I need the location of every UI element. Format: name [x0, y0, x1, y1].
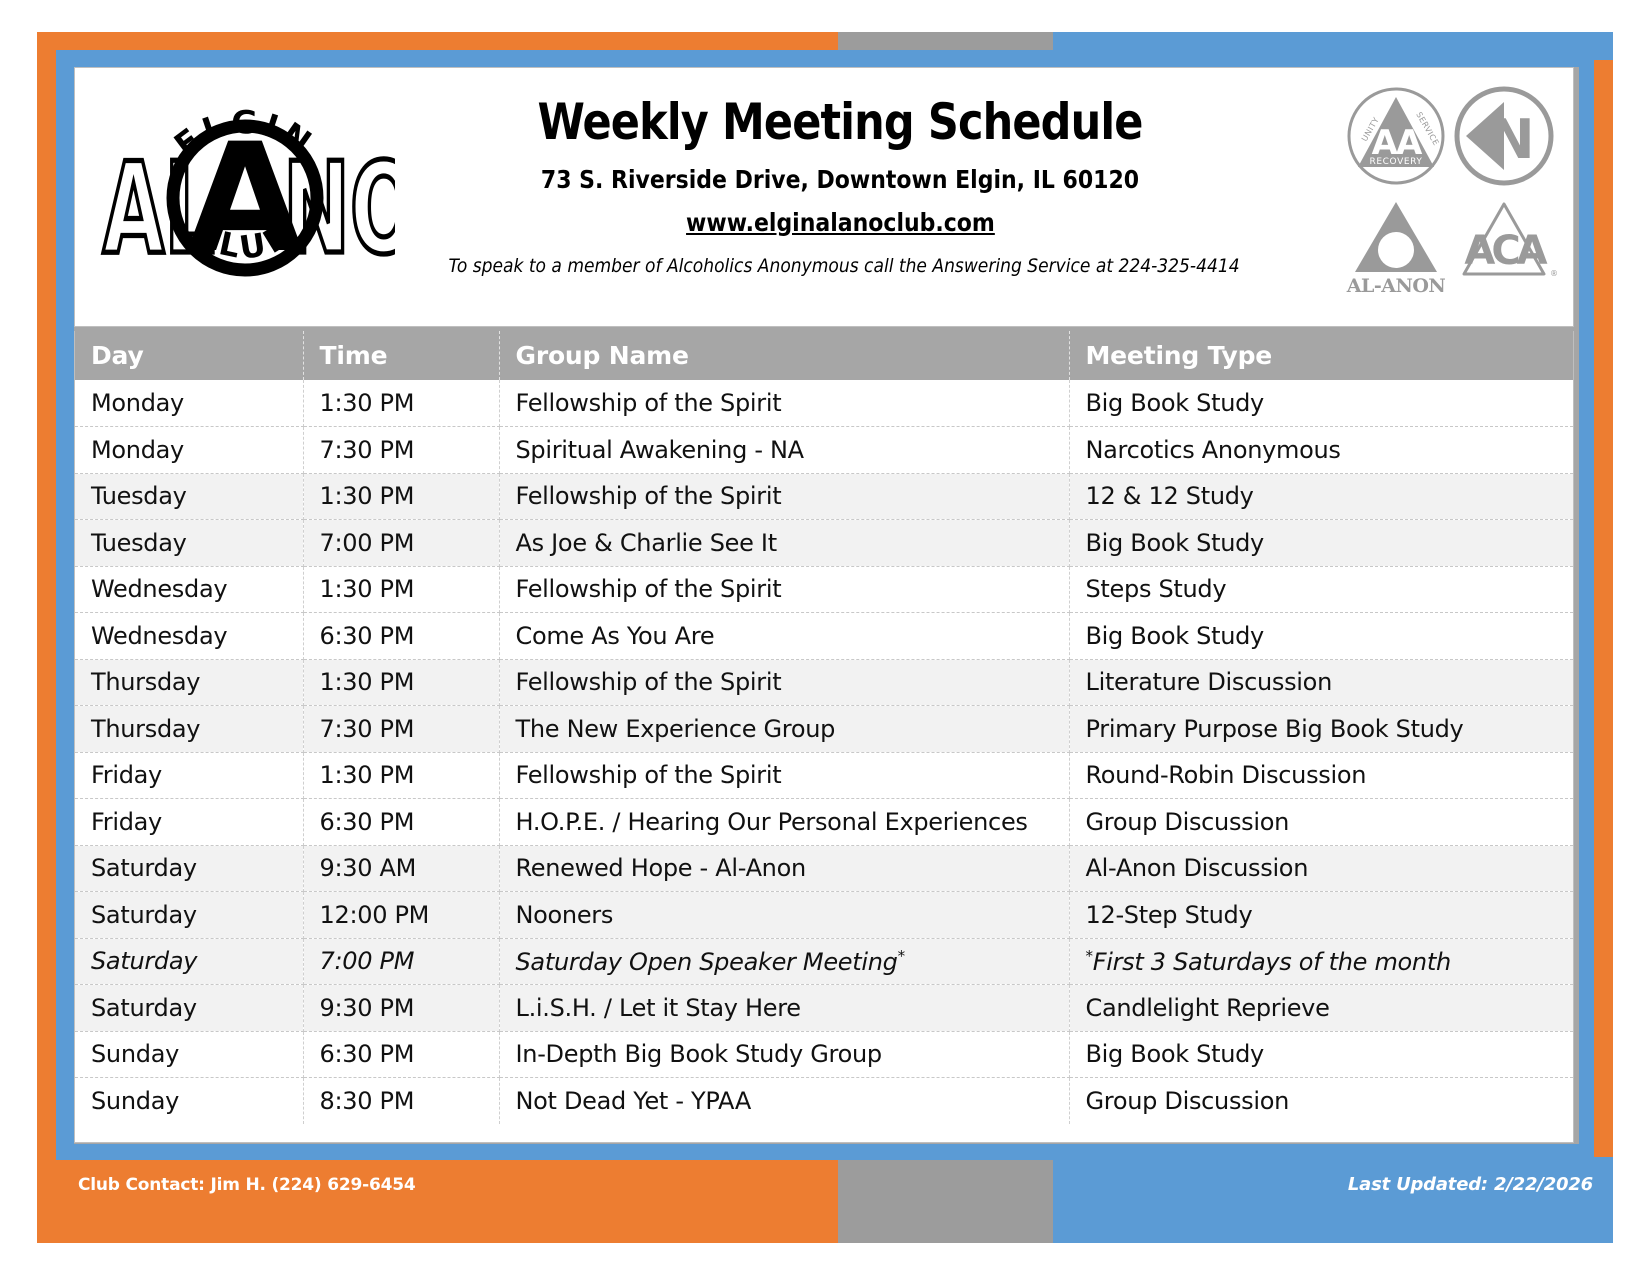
cell-meeting-type: 12 & 12 Study: [1069, 473, 1573, 520]
cell-group-name: Not Dead Yet - YPAA: [499, 1078, 1069, 1125]
svg-text:N: N: [1489, 108, 1534, 171]
table-row[interactable]: Wednesday6:30 PMCome As You AreBig Book …: [75, 613, 1573, 660]
cell-meeting-type: Narcotics Anonymous: [1069, 427, 1573, 474]
cell-meeting-type: Big Book Study: [1069, 520, 1573, 567]
al-anon-logo-icon: AL-ANON: [1346, 202, 1446, 297]
cell-group-name: H.O.P.E. / Hearing Our Personal Experien…: [499, 799, 1069, 846]
cell-time: 7:30 PM: [303, 427, 499, 474]
cell-time: 6:30 PM: [303, 1031, 499, 1078]
cell-day: Tuesday: [75, 473, 303, 520]
table-row[interactable]: Thursday1:30 PMFellowship of the SpiritL…: [75, 659, 1573, 706]
cell-time: 1:30 PM: [303, 473, 499, 520]
column-header-meeting-type[interactable]: Meeting Type: [1069, 331, 1573, 380]
table-row[interactable]: Sunday8:30 PMNot Dead Yet - YPAAGroup Di…: [75, 1078, 1573, 1125]
cell-group-name: Renewed Hope - Al-Anon: [499, 845, 1069, 892]
table-row[interactable]: Monday7:30 PMSpiritual Awakening - NANar…: [75, 427, 1573, 474]
cell-group-name: L.i.S.H. / Let it Stay Here: [499, 985, 1069, 1032]
table-row[interactable]: Tuesday7:00 PMAs Joe & Charlie See ItBig…: [75, 520, 1573, 567]
aa-logo-icon: AA RECOVERY UNITY SERVICE: [1349, 89, 1443, 183]
cell-day: Thursday: [75, 659, 303, 706]
cell-meeting-type: *First 3 Saturdays of the month: [1069, 938, 1573, 985]
bottom-band-grey-segment: [838, 1157, 1053, 1243]
header-card: AL NO A ELGIN CLUB Weekly Meeting Schedu…: [74, 67, 1574, 327]
table-row[interactable]: Saturday9:30 PML.i.S.H. / Let it Stay He…: [75, 985, 1573, 1032]
club-contact-text: Club Contact: Jim H. (224) 629-6454: [78, 1175, 415, 1195]
aca-logo-icon: ACA ®: [1464, 204, 1558, 278]
cell-time: 7:00 PM: [303, 520, 499, 567]
column-header-time[interactable]: Time: [303, 331, 499, 380]
cell-meeting-type: Round-Robin Discussion: [1069, 752, 1573, 799]
table-row[interactable]: Tuesday1:30 PMFellowship of the Spirit12…: [75, 473, 1573, 520]
cell-meeting-type: Big Book Study: [1069, 1031, 1573, 1078]
table-row[interactable]: Saturday7:00 PMSaturday Open Speaker Mee…: [75, 938, 1573, 985]
cell-day: Saturday: [75, 985, 303, 1032]
cell-group-name: The New Experience Group: [499, 706, 1069, 753]
cell-meeting-type: Literature Discussion: [1069, 659, 1573, 706]
table-row[interactable]: Saturday9:30 AMRenewed Hope - Al-AnonAl-…: [75, 845, 1573, 892]
cell-group-name: Nooners: [499, 892, 1069, 939]
cell-group-name: In-Depth Big Book Study Group: [499, 1031, 1069, 1078]
cell-meeting-type: Big Book Study: [1069, 380, 1573, 427]
cell-time: 6:30 PM: [303, 613, 499, 660]
cell-meeting-type: Group Discussion: [1069, 1078, 1573, 1125]
svg-text:ACA: ACA: [1464, 228, 1547, 274]
cell-group-name: Come As You Are: [499, 613, 1069, 660]
bottom-band-blue-segment: [1053, 1157, 1613, 1243]
address-line: 73 S. Riverside Drive, Downtown Elgin, I…: [457, 165, 1223, 194]
cell-group-name: Fellowship of the Spirit: [499, 752, 1069, 799]
cell-meeting-type: 12-Step Study: [1069, 892, 1573, 939]
cell-time: 1:30 PM: [303, 659, 499, 706]
elgin-alano-club-logo: AL NO A ELGIN CLUB: [95, 78, 395, 313]
svg-text:AL-ANON: AL-ANON: [1346, 275, 1446, 297]
meeting-schedule-table-container: Day Time Group Name Meeting Type Monday1…: [74, 331, 1574, 1143]
cell-day: Wednesday: [75, 613, 303, 660]
cell-group-name: Saturday Open Speaker Meeting*: [499, 938, 1069, 985]
cell-day: Thursday: [75, 706, 303, 753]
table-row[interactable]: Thursday7:30 PMThe New Experience GroupP…: [75, 706, 1573, 753]
cell-time: 1:30 PM: [303, 752, 499, 799]
cell-day: Sunday: [75, 1078, 303, 1125]
column-header-group-name[interactable]: Group Name: [499, 331, 1069, 380]
cell-day: Monday: [75, 427, 303, 474]
alano-logo-icon: AL NO A ELGIN CLUB: [95, 78, 395, 313]
na-logo-icon: N: [1457, 89, 1551, 183]
table-body: Monday1:30 PMFellowship of the SpiritBig…: [75, 380, 1573, 1124]
website-link[interactable]: www.elginalanoclub.com: [686, 208, 995, 237]
column-header-day[interactable]: Day: [75, 331, 303, 380]
cell-meeting-type: Group Discussion: [1069, 799, 1573, 846]
svg-text:RECOVERY: RECOVERY: [1370, 157, 1423, 167]
cell-day: Saturday: [75, 845, 303, 892]
cell-day: Sunday: [75, 1031, 303, 1078]
cell-time: 7:00 PM: [303, 938, 499, 985]
meeting-schedule-table: Day Time Group Name Meeting Type Monday1…: [75, 331, 1573, 1124]
cell-time: 9:30 PM: [303, 985, 499, 1032]
page-title: Weekly Meeting Schedule: [466, 96, 1214, 149]
cell-time: 1:30 PM: [303, 566, 499, 613]
cell-day: Saturday: [75, 938, 303, 985]
cell-group-name: Fellowship of the Spirit: [499, 473, 1069, 520]
answering-service-note: To speak to a member of Alcoholics Anony…: [449, 255, 1232, 277]
schedule-flyer: AL NO A ELGIN CLUB Weekly Meeting Schedu…: [0, 0, 1650, 1275]
cell-time: 7:30 PM: [303, 706, 499, 753]
table-row[interactable]: Friday6:30 PMH.O.P.E. / Hearing Our Pers…: [75, 799, 1573, 846]
cell-group-name: As Joe & Charlie See It: [499, 520, 1069, 567]
cell-day: Friday: [75, 752, 303, 799]
cell-time: 1:30 PM: [303, 380, 499, 427]
cell-group-name: Fellowship of the Spirit: [499, 659, 1069, 706]
table-header-row: Day Time Group Name Meeting Type: [75, 331, 1573, 380]
table-row[interactable]: Wednesday1:30 PMFellowship of the Spirit…: [75, 566, 1573, 613]
cell-group-name: Fellowship of the Spirit: [499, 380, 1069, 427]
cell-day: Monday: [75, 380, 303, 427]
last-updated-text: Last Updated: 2/22/2026: [1348, 1174, 1593, 1195]
cell-meeting-type: Al-Anon Discussion: [1069, 845, 1573, 892]
cell-time: 6:30 PM: [303, 799, 499, 846]
svg-text:®: ®: [1550, 269, 1558, 278]
header-text-block: Weekly Meeting Schedule 73 S. Riverside …: [405, 96, 1275, 277]
cell-time: 12:00 PM: [303, 892, 499, 939]
cell-time: 9:30 AM: [303, 845, 499, 892]
cell-meeting-type: Steps Study: [1069, 566, 1573, 613]
cell-meeting-type: Candlelight Reprieve: [1069, 985, 1573, 1032]
cell-time: 8:30 PM: [303, 1078, 499, 1125]
table-row[interactable]: Monday1:30 PMFellowship of the SpiritBig…: [75, 380, 1573, 427]
cell-group-name: Fellowship of the Spirit: [499, 566, 1069, 613]
table-row[interactable]: Sunday6:30 PMIn-Depth Big Book Study Gro…: [75, 1031, 1573, 1078]
cell-day: Wednesday: [75, 566, 303, 613]
table-row[interactable]: Friday1:30 PMFellowship of the SpiritRou…: [75, 752, 1573, 799]
table-row[interactable]: Saturday12:00 PMNooners12-Step Study: [75, 892, 1573, 939]
cell-group-name: Spiritual Awakening - NA: [499, 427, 1069, 474]
cell-day: Saturday: [75, 892, 303, 939]
cell-meeting-type: Big Book Study: [1069, 613, 1573, 660]
cell-day: Friday: [75, 799, 303, 846]
fellowship-logos-group: AA RECOVERY UNITY SERVICE N AL-ANON: [1344, 84, 1559, 299]
cell-day: Tuesday: [75, 520, 303, 567]
cell-meeting-type: Primary Purpose Big Book Study: [1069, 706, 1573, 753]
